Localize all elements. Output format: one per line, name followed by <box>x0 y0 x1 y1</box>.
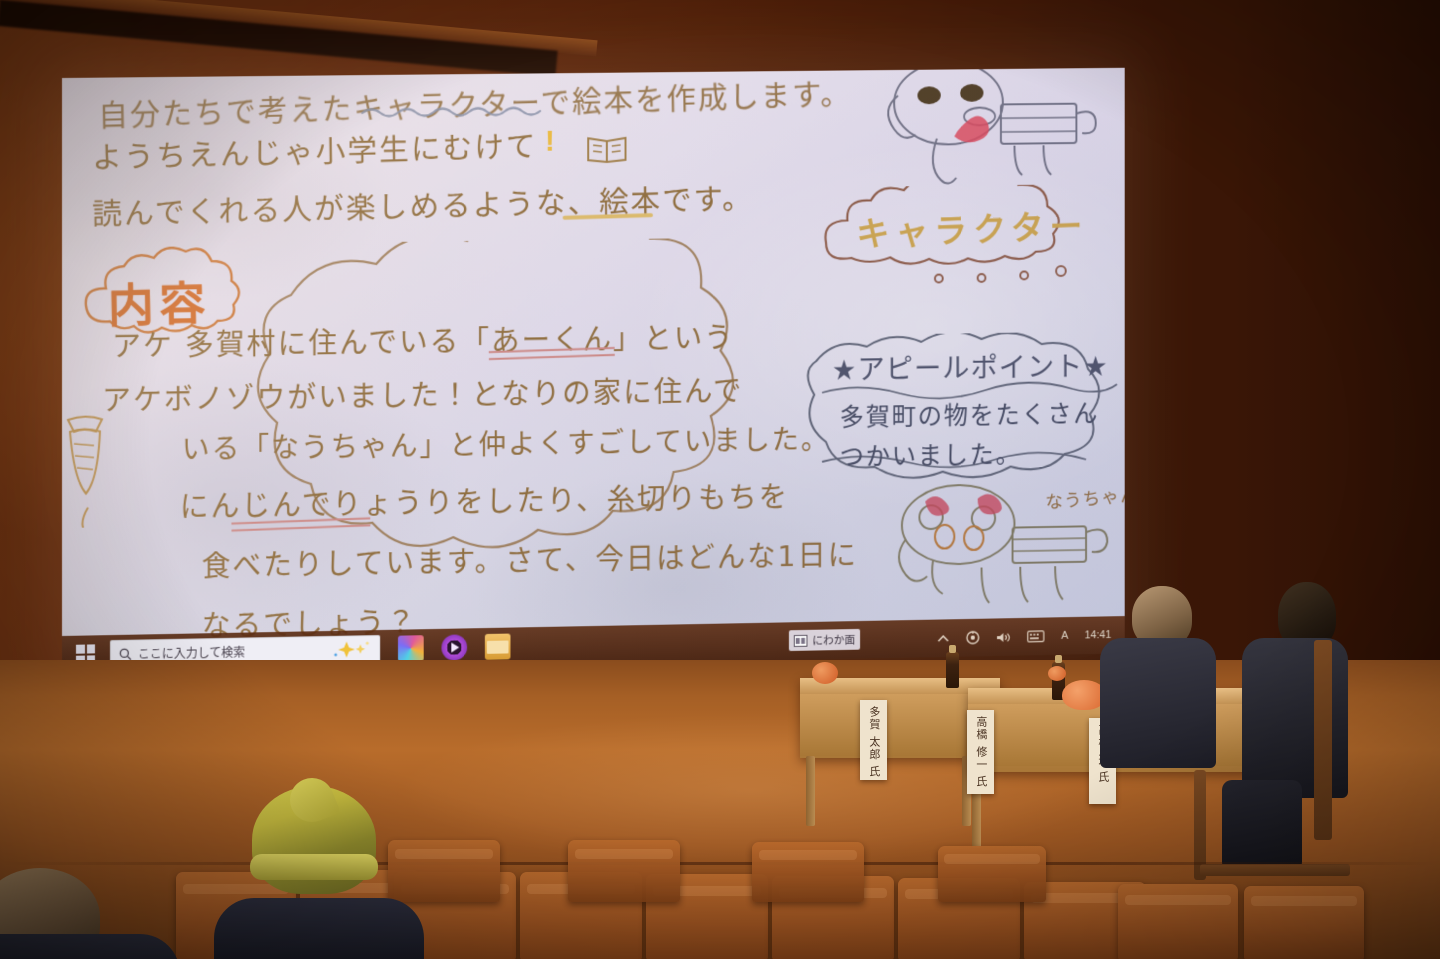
table-leg <box>806 756 815 826</box>
slide-heading-appeal: ★アピールポイント★ <box>832 345 1109 388</box>
stage-chair-right <box>1314 640 1332 840</box>
stage-chair-base <box>1200 864 1350 876</box>
keyboard-icon[interactable] <box>1027 630 1044 642</box>
media-player-icon[interactable] <box>441 634 467 660</box>
audience-seat <box>1118 884 1238 959</box>
copilot-icon[interactable] <box>398 635 424 661</box>
file-explorer-icon[interactable] <box>485 634 511 660</box>
appeal-line-1: 多賀町の物をたくさん <box>840 394 1099 433</box>
beanie-brim <box>250 854 378 880</box>
elephant-drawing-akun-icon <box>879 68 1102 195</box>
panelist-body <box>1100 638 1216 768</box>
screenshot-root: 自分たちで考えたキャラクターで絵本を作成します。 ようちえんじゃ小学生にむけて … <box>0 0 1440 959</box>
name-placard-left: 多賀 太郎 氏 <box>860 700 887 780</box>
system-tray[interactable]: A 14:41 <box>937 616 1111 657</box>
ime-candidate-chip[interactable]: にわか面 <box>789 629 860 651</box>
name-placard-center: 高橋 修一 氏 <box>967 710 994 794</box>
slide-intro-line-2: 読んでくれる人が楽しめるような、絵本です。 <box>92 174 754 234</box>
slide-intro-exclamation: ! <box>545 125 555 159</box>
sparkle-icon <box>333 639 373 660</box>
squiggle-underline-icon <box>360 103 567 119</box>
ime-chip-label: にわか面 <box>812 631 855 648</box>
audience-seat-back-row <box>388 840 500 902</box>
appeal-line-2: つかいました。 <box>840 435 1022 473</box>
search-icon <box>119 647 132 660</box>
panelist-legs <box>1222 780 1302 872</box>
audience-person-left-body <box>0 934 180 959</box>
placard-text: 多賀 太郎 氏 <box>867 706 880 778</box>
panelist-body <box>1242 638 1348 798</box>
audience-seat <box>1244 886 1364 959</box>
water-bottle <box>946 652 959 688</box>
audience-seat-back-row <box>938 846 1046 902</box>
open-book-icon <box>584 134 629 164</box>
show-hidden-icons-icon[interactable] <box>937 634 950 643</box>
network-icon[interactable] <box>966 631 980 645</box>
audience-seat-back-row <box>752 842 864 902</box>
ime-panel-icon <box>794 634 808 646</box>
projection-screen: 自分たちで考えたキャラクターで絵本を作成します。 ようちえんじゃ小学生にむけて … <box>62 68 1125 674</box>
ime-mode-icon[interactable]: A <box>1061 630 1068 642</box>
volume-icon[interactable] <box>996 630 1011 643</box>
plush-accent <box>1048 666 1066 681</box>
plush-elephant-toy <box>812 662 838 684</box>
placard-text: 高橋 修一 氏 <box>974 716 987 788</box>
audience-seat-back-row <box>568 840 680 902</box>
audience-person-front-shoulders <box>214 898 424 959</box>
carrot-drawing-icon <box>62 397 124 528</box>
clock-label[interactable]: 14:41 <box>1085 629 1112 641</box>
slide-heading-character: キャラクター <box>856 199 1089 256</box>
stage-edge-line <box>0 862 1440 865</box>
